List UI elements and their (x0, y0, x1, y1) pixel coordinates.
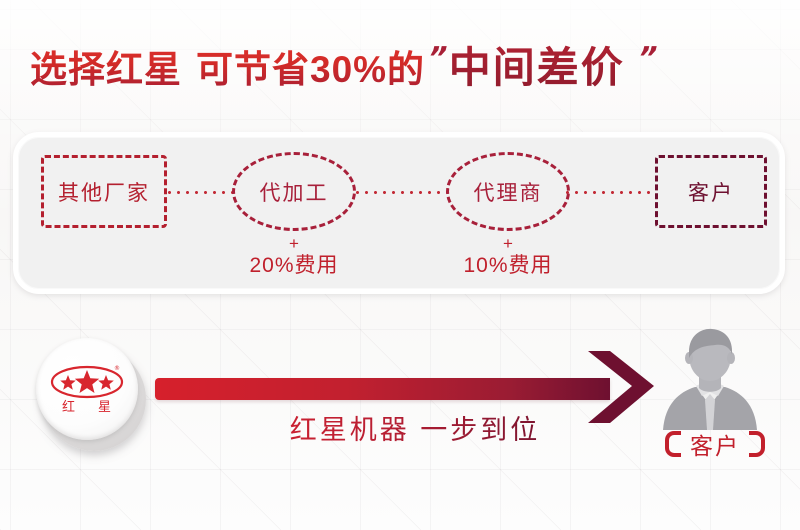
svg-text:®: ® (114, 365, 120, 372)
flow-diagram: 其他厂家 代加工 + 20%费用 代理商 + 10%费用 客户 (18, 137, 780, 289)
fee-amount: 10%费用 (446, 253, 570, 279)
arrow-bar (155, 378, 610, 400)
flow-node-label: 客户 (688, 177, 734, 207)
connector-1 (165, 191, 235, 194)
progress-arrow (155, 375, 645, 403)
connector-2 (353, 191, 451, 194)
flow-node-customer: 客户 (655, 155, 767, 228)
fee-agent: + 10%费用 (446, 235, 570, 279)
fee-plus-sign: + (446, 235, 570, 252)
middleman-flow-panel: 其他厂家 代加工 + 20%费用 代理商 + 10%费用 客户 (13, 132, 785, 294)
flow-node-label: 代加工 (260, 177, 329, 207)
connector-3 (563, 191, 655, 194)
flow-node-agent: 代理商 (446, 152, 570, 231)
flow-node-oem-processing: 代加工 (232, 152, 356, 231)
flow-node-label: 其他厂家 (58, 177, 150, 207)
headline-emphasis: 中间差价 (449, 34, 625, 95)
fee-oem-processing: + 20%费用 (232, 235, 356, 279)
bracket-right-icon (749, 431, 765, 457)
businessman-avatar-icon (655, 320, 765, 430)
fee-amount: 20%费用 (232, 253, 356, 279)
headline-part1: 选择红星 (30, 39, 182, 93)
poster-canvas: 选择红星 可节省30%的 ” 中间差价 ” 其他厂家 代加工 + 20%费用 (0, 0, 800, 530)
headline: 选择红星 可节省30%的 ” 中间差价 ” (30, 34, 659, 95)
fee-plus-sign: + (232, 235, 356, 252)
customer-badge: 客户 (640, 424, 790, 464)
quote-close-icon: ” (632, 41, 657, 76)
headline-part2: 可节省30%的 (196, 39, 425, 93)
flow-node-label: 代理商 (474, 177, 543, 207)
bracket-left-icon (665, 431, 681, 457)
flow-node-other-factory: 其他厂家 (41, 155, 167, 228)
quote-open-icon: ” (423, 41, 448, 76)
tagline-text: 红星机器 一步到位 (260, 408, 541, 447)
customer-label: 客户 (690, 427, 740, 461)
